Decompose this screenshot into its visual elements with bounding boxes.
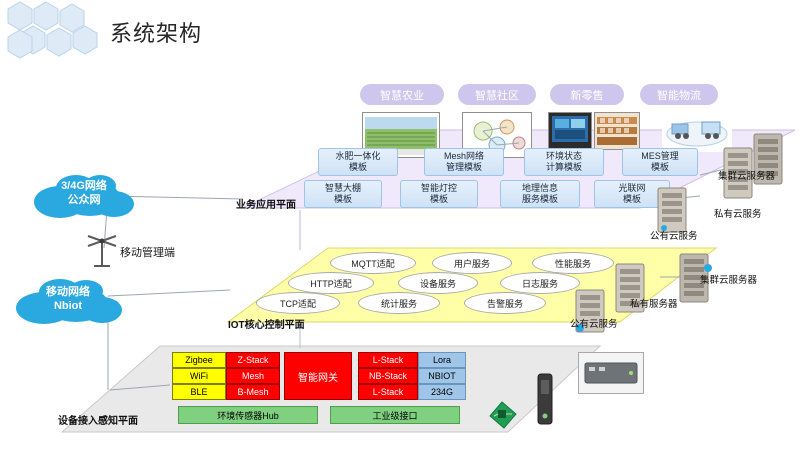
service-6[interactable]: TCP适配 [256,292,340,314]
app-pill-2[interactable]: 新零售 [550,84,624,105]
service-0[interactable]: MQTT适配 [330,252,416,274]
service-3[interactable]: HTTP适配 [288,272,374,294]
module-4[interactable]: 智慧大棚 模板 [304,180,382,208]
module-1[interactable]: Mesh网络 管理模板 [424,148,504,176]
smart-gateway[interactable]: 智能网关 [284,352,352,400]
device-cell-hub[interactable]: 环境传感器Hub [178,406,318,424]
app-pill-3[interactable]: 智能物流 [640,84,718,105]
network-cloud-0-label: 3/4G网络 公众网 [34,180,134,208]
device-cell-6[interactable]: L-Stack [358,352,418,368]
antenna-icon [80,232,124,268]
device-cell-7[interactable]: Lora [418,352,466,368]
page-title: 系统架构 [110,16,202,48]
module-6-label: 地理信息 服务模板 [522,183,558,206]
server-label-3: 集群云服务器 [700,272,757,286]
network-cloud-1-label: 移动网络 Nbiot [16,286,120,314]
module-4-label: 智慧大棚 模板 [325,183,361,206]
module-1-label: Mesh网络 管理模板 [444,151,484,174]
device-cell-industrial[interactable]: 工业级接口 [330,406,460,424]
server-rack-public[interactable] [574,288,608,339]
app-thumbnail-retail-screen [548,112,592,150]
app-pill-0[interactable]: 智慧农业 [360,84,444,105]
device-cell-11[interactable]: 234G [418,384,466,400]
module-0-label: 水肥一体化 模板 [335,151,380,174]
device-plane-label: 设备接入感知平面 [58,412,138,427]
module-7-label: 光联网 模板 [618,183,645,206]
mobile-admin-label: 移动管理端 [120,244,175,260]
module-3[interactable]: MES管理 模板 [622,148,698,176]
device-cell-1[interactable]: Z-Stack [226,352,280,368]
service-7[interactable]: 统计服务 [358,292,440,314]
module-2-label: 环境状态 计算模板 [546,151,582,174]
server-rack-cluster-cloud-top[interactable] [752,132,786,191]
module-6[interactable]: 地理信息 服务模板 [500,180,580,208]
module-2[interactable]: 环境状态 计算模板 [524,148,604,176]
server-rack-private[interactable] [614,262,648,319]
iot-plane-label: IOT核心控制平面 [228,316,305,331]
slide-root: 系统架构 智慧农业 智慧社区 新零售 智能物流 [0,0,800,450]
business-plane-label: 业务应用平面 [236,196,296,211]
sensor-column-photo [534,372,556,426]
module-5[interactable]: 智能灯控 模板 [400,180,478,208]
module-5-label: 智能灯控 模板 [421,183,457,206]
module-3-label: MES管理 模板 [641,151,679,174]
server-label-0: 集群云服务器 [718,168,775,182]
device-cell-10[interactable]: L-Stack [358,384,418,400]
device-cell-3[interactable]: Mesh [226,368,280,384]
device-cell-8[interactable]: NB-Stack [358,368,418,384]
gateway-device-photo [578,352,644,394]
device-cell-9[interactable]: NBIOT [418,368,466,384]
device-cell-4[interactable]: BLE [172,384,226,400]
server-label-2: 公有云服务 [650,228,698,242]
server-label-4: 私有服务器 [630,296,678,310]
service-8[interactable]: 告警服务 [464,292,546,314]
service-2[interactable]: 性能服务 [532,252,614,274]
app-thumbnail-retail-shelf [594,112,640,150]
device-cell-2[interactable]: WiFi [172,368,226,384]
module-0[interactable]: 水肥一体化 模板 [318,148,398,176]
device-cell-0[interactable]: Zigbee [172,352,226,368]
service-1[interactable]: 用户服务 [432,252,512,274]
server-label-5: 公有云服务 [570,316,618,330]
service-5[interactable]: 日志服务 [500,272,580,294]
device-cell-5[interactable]: B-Mesh [226,384,280,400]
pcb-board-photo [486,398,520,432]
logo-hexagons [2,0,110,60]
service-4[interactable]: 设备服务 [398,272,478,294]
server-label-1: 私有云服务 [714,206,762,220]
app-pill-1[interactable]: 智慧社区 [458,84,536,105]
